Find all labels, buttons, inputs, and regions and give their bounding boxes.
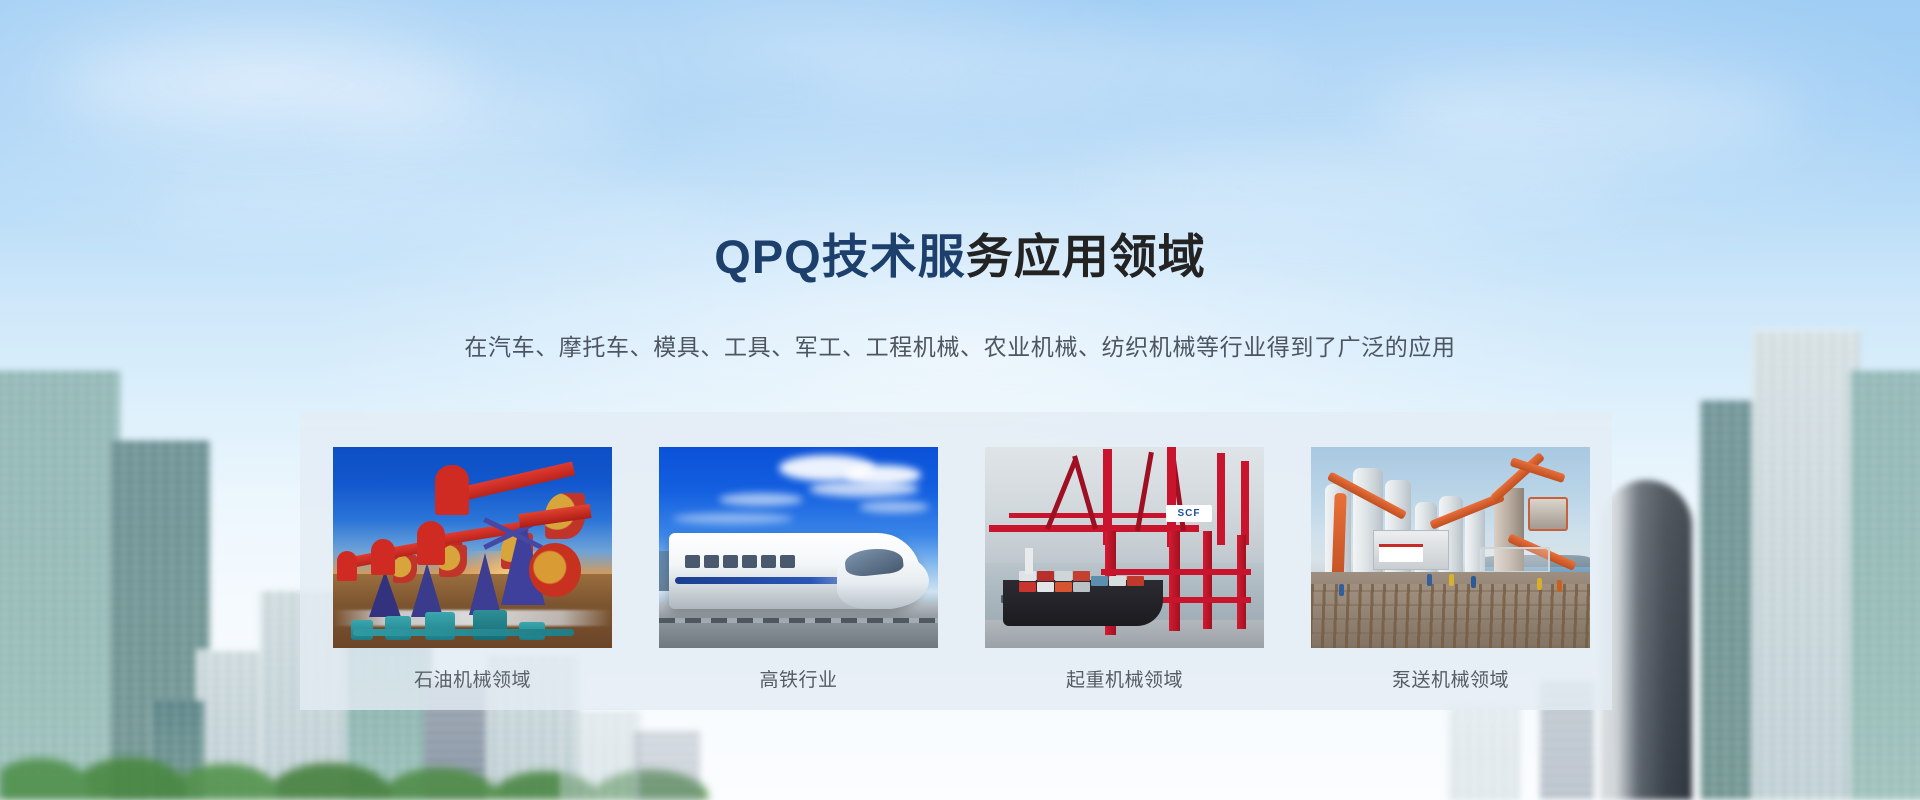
cloud [719, 493, 803, 506]
window [685, 555, 700, 568]
card-label-rail: 高铁行业 [659, 665, 938, 692]
cloud [673, 513, 793, 524]
card-pumping-machinery[interactable]: 泵送机械领域 [1311, 447, 1590, 692]
window [780, 555, 795, 568]
window [761, 555, 776, 568]
cloud [859, 501, 929, 513]
crane-leg [1203, 531, 1212, 629]
card-label-pump: 泵送机械领域 [1311, 665, 1590, 692]
container [1073, 582, 1090, 592]
card-grid: 石油机械领域 [300, 412, 1612, 710]
worker [1471, 576, 1476, 588]
container [1127, 576, 1144, 586]
cloud [809, 481, 919, 497]
application-fields-panel: 石油机械领域 [300, 412, 1612, 710]
hero-content: QPQ技术服务应用领域 在汽车、摩托车、模具、工具、军工、工程机械、农业机械、纺… [0, 0, 1920, 800]
platform-railing [1478, 547, 1550, 573]
crane-tower [1241, 461, 1249, 545]
wellhead [385, 616, 411, 640]
port-cranes-image: SCF [985, 447, 1264, 648]
concrete-pumping-image [1311, 447, 1590, 648]
crane-stay [1072, 455, 1098, 529]
worker [1557, 580, 1562, 592]
crane-leg [1237, 535, 1246, 629]
container [1055, 571, 1072, 581]
rebar-grid [1311, 584, 1590, 648]
container [1073, 571, 1090, 581]
crane-stay [1045, 459, 1077, 529]
crane-brand-sign: SCF [1166, 505, 1212, 522]
crane-girder [1101, 569, 1251, 575]
pipeline [353, 629, 574, 636]
counterweight [529, 543, 581, 597]
site-banner [1379, 544, 1423, 562]
window [723, 555, 738, 568]
card-label-oil: 石油机械领域 [333, 665, 612, 692]
worker [1449, 574, 1454, 586]
container [1037, 582, 1054, 592]
page-title-primary: QPQ技术服 [714, 230, 965, 283]
ship-mast [1025, 548, 1033, 574]
worker [1427, 574, 1432, 586]
page-title-secondary: 务应用领域 [966, 230, 1206, 283]
crane-tower [1217, 453, 1225, 545]
card-label-crane: 起重机械领域 [985, 665, 1264, 692]
operator-cabin [1528, 497, 1568, 531]
card-oil-machinery[interactable]: 石油机械领域 [333, 447, 612, 692]
oil-pumpjacks-image [333, 447, 612, 648]
card-lifting-machinery[interactable]: SCF 起重机械领域 [985, 447, 1264, 692]
crane-stay [1135, 452, 1154, 532]
train-carriage [669, 533, 921, 609]
crane-leg [1169, 531, 1180, 631]
page-title: QPQ技术服务应用领域 [0, 232, 1920, 281]
worker [1537, 578, 1542, 590]
worker [1339, 584, 1344, 596]
container [1109, 576, 1126, 586]
card-high-speed-rail[interactable]: 高铁行业 [659, 447, 938, 692]
container [1055, 582, 1072, 592]
page-subtitle: 在汽车、摩托车、模具、工具、军工、工程机械、农业机械、纺织机械等行业得到了广泛的… [0, 328, 1920, 362]
container [1091, 576, 1108, 586]
window [704, 555, 719, 568]
window [742, 555, 757, 568]
high-speed-train-image [659, 447, 938, 648]
railway-track [659, 604, 938, 648]
container [1019, 582, 1036, 592]
container [1037, 571, 1054, 581]
